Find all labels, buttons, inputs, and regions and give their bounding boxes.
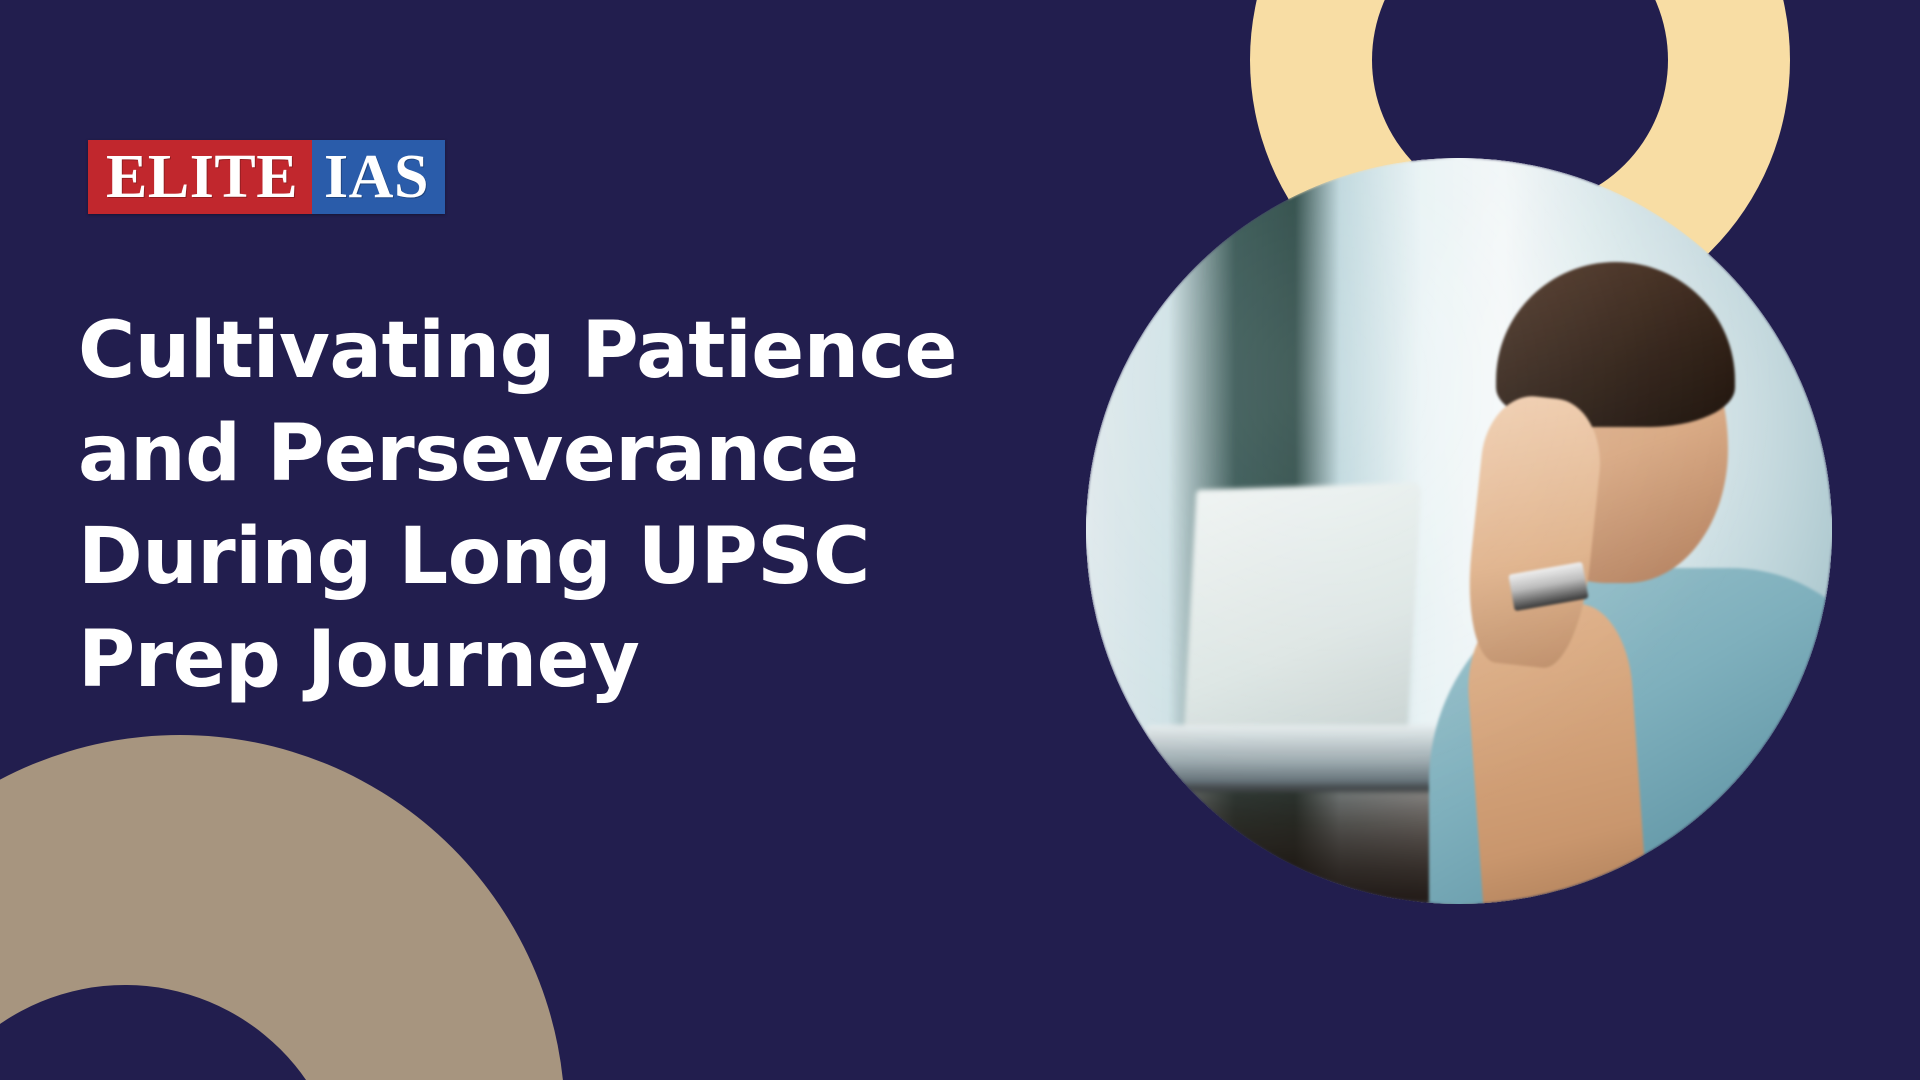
page-title-line-3: During Long UPSC xyxy=(78,506,1088,609)
tan-ring-decoration xyxy=(0,735,565,1080)
banner-canvas: ELITE IAS Cultivating Patience and Perse… xyxy=(0,0,1920,1080)
logo-ias-text: IAS xyxy=(312,140,445,214)
stressed-student-photo xyxy=(1086,158,1832,904)
page-title: Cultivating Patience and Perseverance Du… xyxy=(78,300,1088,712)
page-title-line-2: and Perseverance xyxy=(78,403,1088,506)
tan-ring-inner-hole xyxy=(0,985,345,1080)
elite-ias-logo[interactable]: ELITE IAS xyxy=(88,140,445,214)
page-title-line-4: Prep Journey xyxy=(78,609,1088,712)
logo-elite-text: ELITE xyxy=(88,140,312,214)
page-title-line-1: Cultivating Patience xyxy=(78,300,1088,403)
photo-soft-light-overlay xyxy=(1086,158,1832,904)
